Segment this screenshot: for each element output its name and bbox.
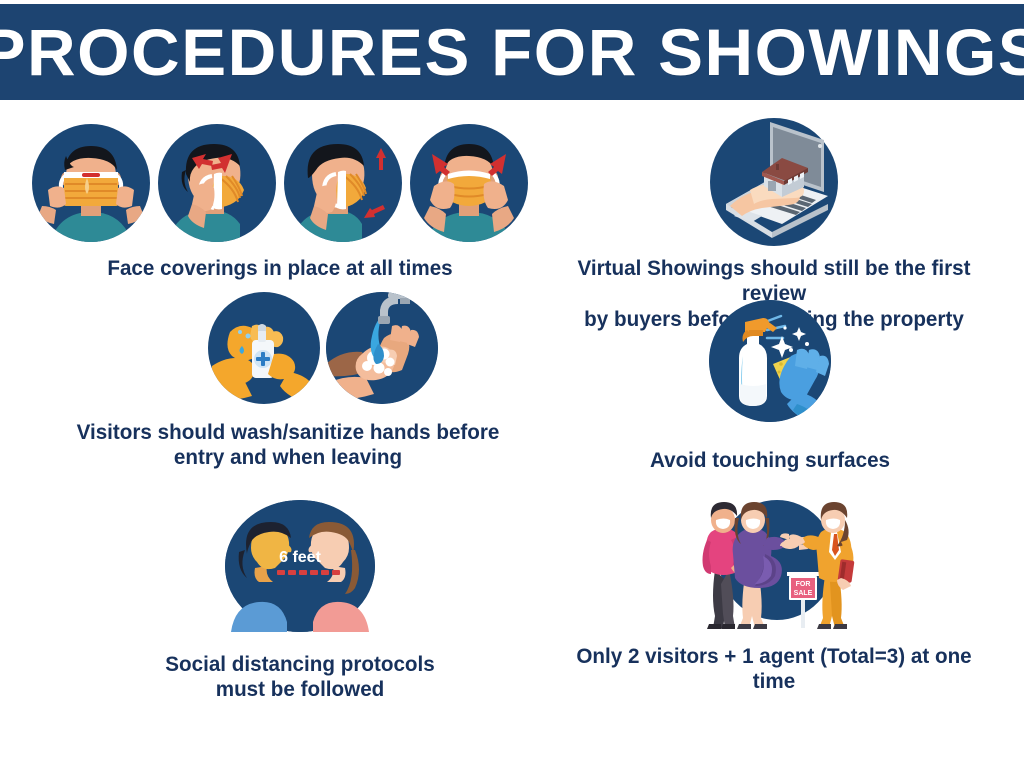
section-visitor-limit: FOR SALE	[548, 498, 1000, 695]
section-avoid-surfaces: Avoid touching surfaces	[560, 300, 980, 473]
hand-sanitizer-bottle-icon	[208, 292, 320, 404]
caption-line: Social distancing protocols	[89, 652, 511, 677]
hand-hygiene-icon	[58, 292, 518, 404]
caption-avoid-surfaces: Avoid touching surfaces	[568, 448, 971, 473]
mask-press-nose-bridge-icon	[410, 124, 528, 242]
face-mask-steps-icon	[30, 124, 530, 242]
section-social-distancing: 6 feet Social distancing protocols must …	[80, 500, 520, 703]
caption-line: Only 2 visitors + 1 agent (Total=3) at o…	[557, 644, 991, 695]
header-banner: PROCEDURES FOR SHOWINGS	[0, 4, 1024, 100]
laptop-house-in-hand-icon	[710, 118, 838, 246]
page-title: PROCEDURES FOR SHOWINGS	[0, 19, 1024, 85]
visitors-and-agent-icon: FOR SALE	[689, 498, 859, 630]
section-face-coverings: Face coverings in place at all times	[30, 124, 530, 281]
spray-bottle-sponge-icon	[709, 300, 831, 422]
caption-social-distancing: Social distancing protocols must be foll…	[89, 652, 511, 703]
caption-line: Face coverings in place at all times	[40, 256, 520, 281]
caption-line: entry and when leaving	[67, 445, 509, 470]
infographic-poster: PROCEDURES FOR SHOWINGS	[0, 0, 1024, 768]
caption-hand-hygiene: Visitors should wash/sanitize hands befo…	[67, 420, 509, 471]
caption-line: Avoid touching surfaces	[568, 448, 971, 473]
social-distancing-icon: 6 feet	[225, 500, 375, 632]
sign-line-2: SALE	[794, 590, 813, 597]
caption-face-coverings: Face coverings in place at all times	[40, 256, 520, 281]
distance-label: 6 feet	[279, 549, 321, 566]
section-hand-hygiene: Visitors should wash/sanitize hands befo…	[58, 292, 518, 471]
handwashing-faucet-icon	[326, 292, 438, 404]
mask-adjust-icon	[284, 124, 402, 242]
caption-visitor-limit: Only 2 visitors + 1 agent (Total=3) at o…	[557, 644, 991, 695]
mask-hold-to-face-icon	[32, 124, 150, 242]
sign-line-1: FOR	[796, 581, 811, 588]
caption-line: must be followed	[89, 677, 511, 702]
for-sale-sign: FOR SALE	[787, 572, 821, 628]
caption-line: Visitors should wash/sanitize hands befo…	[67, 420, 509, 445]
mask-secure-ear-loop-icon	[158, 124, 276, 242]
